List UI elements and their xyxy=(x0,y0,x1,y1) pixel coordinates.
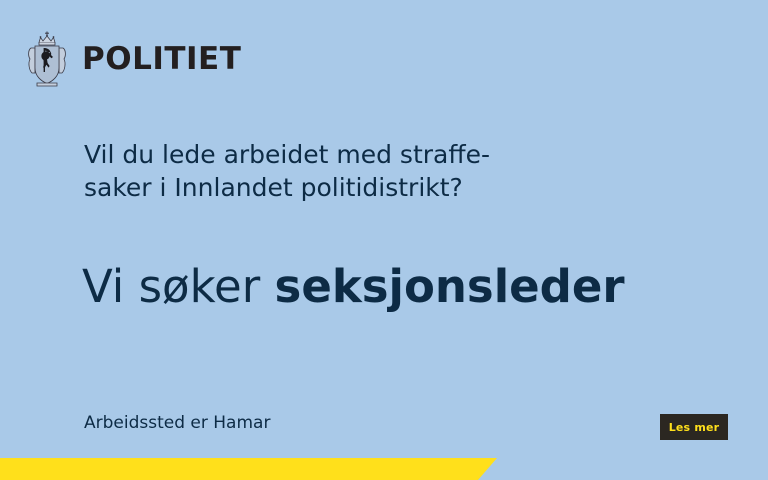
politiet-logo: POLITIET xyxy=(24,30,241,88)
title-role: seksjonsleder xyxy=(275,260,625,313)
headline-question: Vil du lede arbeidet med straffe- saker … xyxy=(84,138,644,204)
read-more-button[interactable]: Les mer xyxy=(660,414,728,440)
read-more-label: Les mer xyxy=(669,421,720,434)
page-title: Vi søker seksjonsleder xyxy=(82,263,625,310)
recruitment-banner: POLITIET Vil du lede arbeidet med straff… xyxy=(0,0,768,480)
title-lead: Vi søker xyxy=(82,260,275,313)
norwegian-coat-of-arms-icon xyxy=(24,30,70,88)
politiet-wordmark: POLITIET xyxy=(82,44,241,75)
location-text: Arbeidssted er Hamar xyxy=(84,413,270,433)
accent-stripe xyxy=(0,458,500,480)
